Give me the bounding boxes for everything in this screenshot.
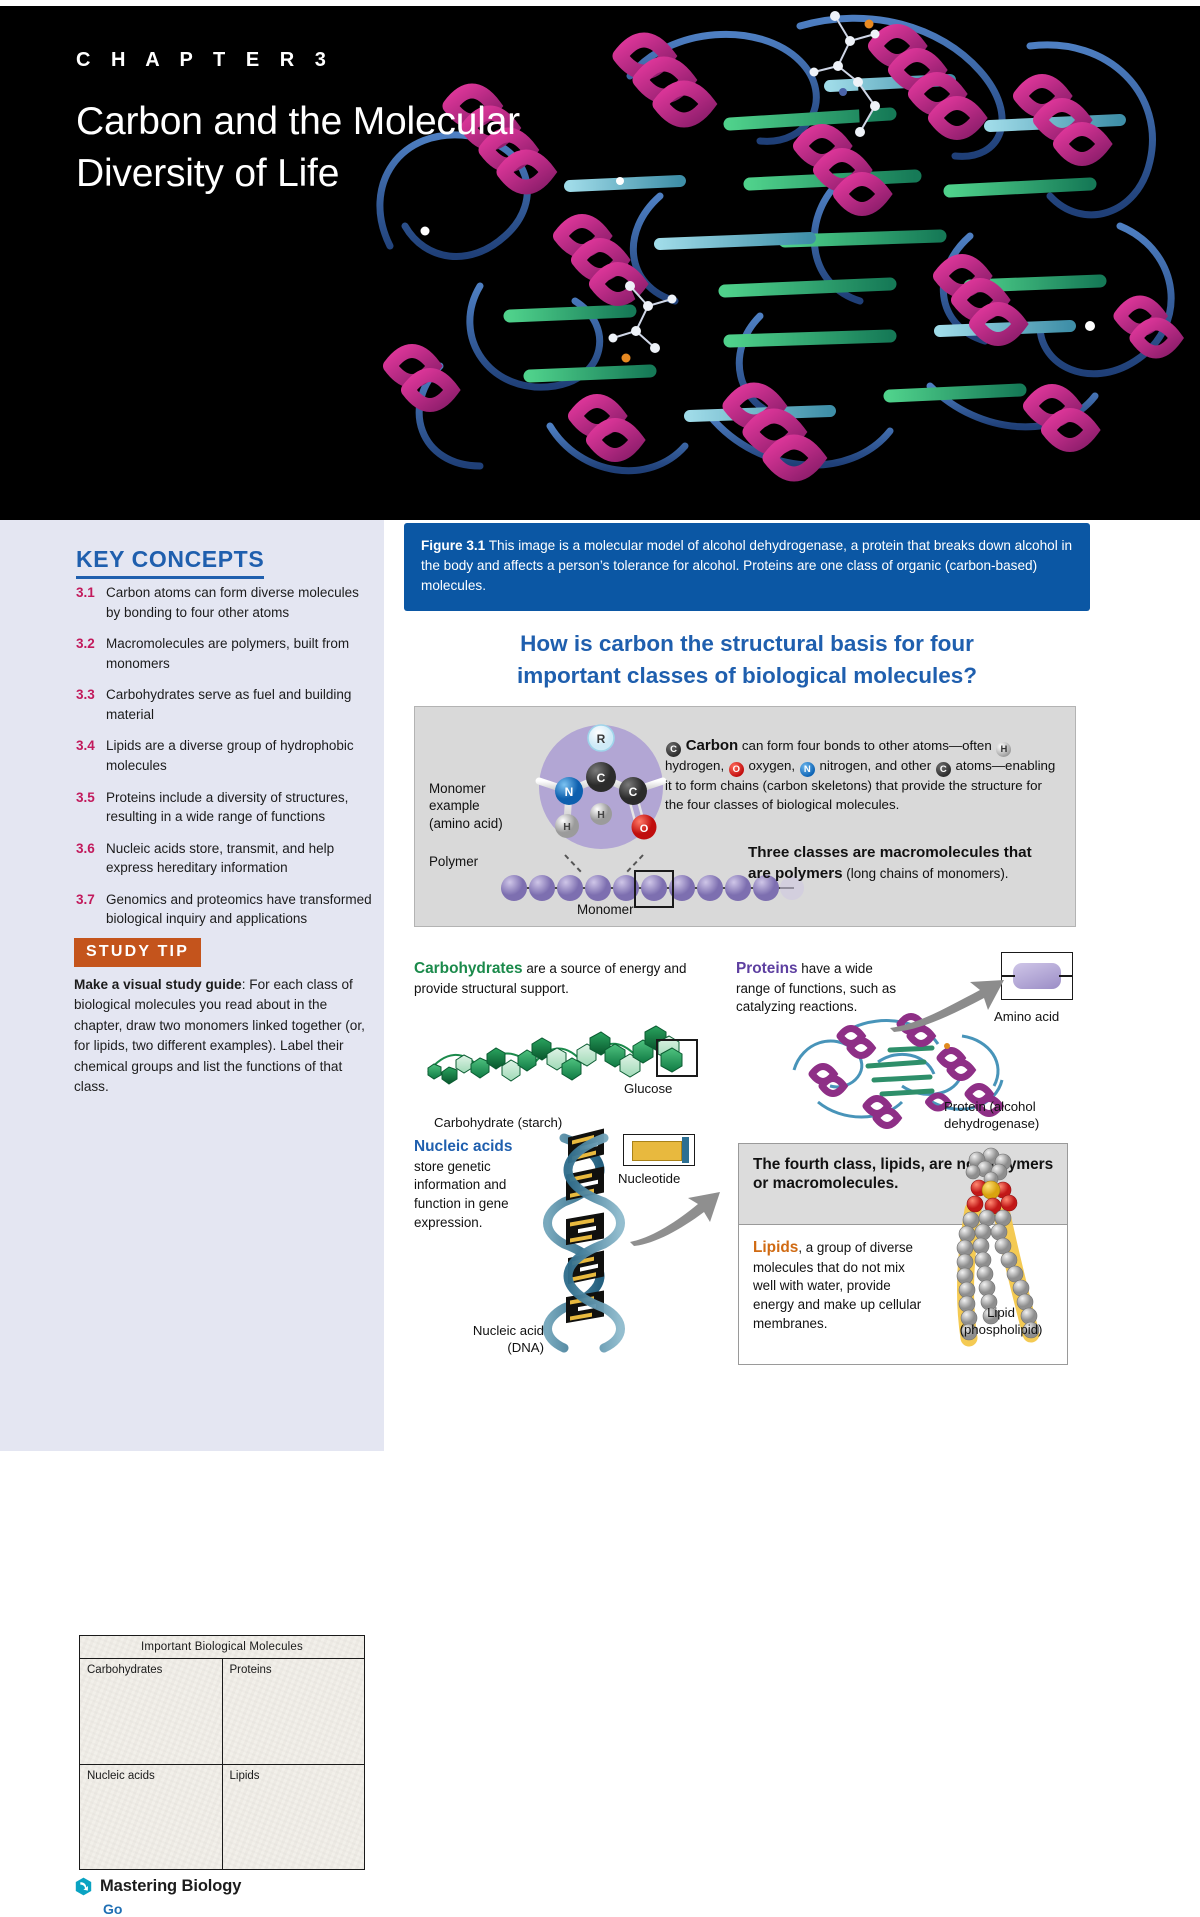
nucleic-acids-block: Nucleic acids store genetic information …	[414, 1136, 734, 1233]
lipid-caption-line1: Lipid	[935, 1304, 1067, 1321]
carbon-explanation: C Carbon can form four bonds to other at…	[665, 735, 1060, 815]
list-item[interactable]: 3.6 Nucleic acids store, transmit, and h…	[76, 839, 372, 878]
table-row: Carbohydrates Proteins	[80, 1659, 364, 1765]
table-cell-proteins: Proteins	[223, 1659, 365, 1764]
nitrogen-atom-icon: N	[800, 762, 815, 777]
nucleotide-backbone	[682, 1137, 689, 1163]
carbon-concept-box: Monomer example (amino acid) Polymer Mon…	[414, 706, 1076, 927]
table-cell-lipids: Lipids	[223, 1765, 365, 1870]
concept-number: 3.5	[76, 788, 106, 827]
nucleic-acids-paragraph: Nucleic acids store genetic information …	[414, 1136, 532, 1233]
concept-text: Lipids are a diverse group of hydrophobi…	[106, 736, 372, 775]
study-tip-text: : For each class of biological molecules…	[74, 977, 365, 1094]
lipids-paragraph: Lipids, a group of diverse molecules tha…	[739, 1225, 929, 1334]
question-heading: How is carbon the structural basis for f…	[404, 628, 1090, 692]
glucose-label: Glucose	[624, 1080, 672, 1097]
lipid-caption-line2: (phospholipid)	[935, 1321, 1067, 1338]
monomer-example-label: Monomer example (amino acid)	[429, 780, 521, 832]
concept-text: Genomics and proteomics have transformed…	[106, 890, 372, 929]
mastering-biology-label: Mastering Biology	[100, 1877, 241, 1896]
amino-acid-callout	[1001, 952, 1073, 1000]
list-item[interactable]: 3.2 Macromolecules are polymers, built f…	[76, 634, 372, 673]
page-title: Carbon and the Molecular Diversity of Li…	[76, 96, 520, 200]
key-concepts-list: 3.1 Carbon atoms can form diverse molecu…	[76, 583, 372, 941]
chapter-title-line-2: Diversity of Life	[76, 148, 520, 200]
lipids-label: Lipids	[753, 1239, 798, 1256]
carbon-atom-icon-2: C	[936, 762, 951, 777]
concept-number: 3.6	[76, 839, 106, 878]
concept-number: 3.1	[76, 583, 106, 622]
carbon-text-4: nitrogen, and other	[816, 758, 935, 773]
study-tip-lead: Make a visual study guide	[74, 977, 242, 992]
study-guide-table: Important Biological Molecules Carbohydr…	[79, 1635, 365, 1870]
carbon-text-1: can form four bonds to other atoms—often	[738, 738, 995, 753]
concept-number: 3.3	[76, 685, 106, 724]
mastering-biology-link[interactable]: Mastering Biology	[74, 1877, 241, 1896]
nucleic-acids-label: Nucleic acids	[414, 1138, 512, 1155]
hero-text-block: C H A P T E R 3 Carbon and the Molecular…	[76, 50, 520, 200]
nucleic-acids-text: store genetic information and function i…	[414, 1159, 509, 1230]
carbohydrates-label: Carbohydrates	[414, 960, 523, 977]
hydrogen-atom-icon: H	[996, 742, 1011, 757]
dna-caption: Nucleic acid (DNA)	[464, 1322, 544, 1356]
lipid-caption: Lipid (phospholipid)	[935, 1304, 1067, 1338]
list-item[interactable]: 3.4 Lipids are a diverse group of hydrop…	[76, 736, 372, 775]
proteins-block: Proteins have a wide range of functions,…	[736, 958, 1086, 1017]
nucleotide-base	[632, 1141, 682, 1161]
figure-caption-text: This image is a molecular model of alcoh…	[421, 538, 1072, 593]
mastering-arrow-icon	[74, 1877, 93, 1896]
monomer-label-line2: example	[429, 797, 521, 814]
amino-acid-bead	[1013, 963, 1061, 989]
carbohydrates-block: Carbohydrates are a source of energy and…	[414, 958, 714, 1131]
lipids-panel: The fourth class, lipids, are not polyme…	[738, 1143, 1068, 1365]
svg-text:O: O	[640, 823, 649, 835]
svg-text:H: H	[563, 821, 571, 833]
figure-label: Figure 3.1	[421, 538, 485, 553]
list-item[interactable]: 3.3 Carbohydrates serve as fuel and buil…	[76, 685, 372, 724]
concept-text: Nucleic acids store, transmit, and help …	[106, 839, 372, 878]
svg-text:H: H	[597, 809, 605, 821]
concept-number: 3.7	[76, 890, 106, 929]
table-row: Nucleic acids Lipids	[80, 1765, 364, 1870]
key-concepts-heading: KEY CONCEPTS	[76, 546, 264, 579]
table-title: Important Biological Molecules	[80, 1636, 364, 1659]
concept-text: Proteins include a diversity of structur…	[106, 788, 372, 827]
concept-number: 3.4	[76, 736, 106, 775]
amino-acid-bond-right	[1059, 975, 1072, 977]
monomer-label-line1: Monomer	[429, 780, 521, 797]
study-tip-badge: STUDY TIP	[74, 938, 201, 967]
svg-text:N: N	[565, 785, 574, 799]
svg-text:R: R	[597, 732, 606, 746]
nucleotide-label: Nucleotide	[618, 1170, 680, 1187]
protein-caption: Protein (alcohol dehydrogenase)	[944, 1098, 1039, 1132]
chapter-title-line-1: Carbon and the Molecular	[76, 96, 520, 148]
table-cell-nucleic-acids: Nucleic acids	[80, 1765, 223, 1870]
monomer-label-line3: (amino acid)	[429, 815, 521, 832]
hero-banner: C H A P T E R 3 Carbon and the Molecular…	[0, 6, 1200, 520]
protein-caption-line2: dehydrogenase)	[944, 1115, 1039, 1132]
svg-text:C: C	[597, 771, 606, 785]
list-item[interactable]: 3.5 Proteins include a diversity of stru…	[76, 788, 372, 827]
starch-diagram: Glucose	[414, 1010, 714, 1088]
carbohydrates-paragraph: Carbohydrates are a source of energy and…	[414, 958, 714, 998]
list-item[interactable]: 3.1 Carbon atoms can form diverse molecu…	[76, 583, 372, 622]
go-link[interactable]: Go	[103, 1901, 122, 1917]
proteins-label: Proteins	[736, 960, 798, 977]
dna-caption-line2: (DNA)	[464, 1339, 544, 1356]
figure-caption-banner: Figure 3.1 This image is a molecular mod…	[404, 523, 1090, 611]
question-line-2: important classes of biological molecule…	[404, 660, 1090, 692]
carbon-bold-word: Carbon	[686, 737, 739, 754]
list-item[interactable]: 3.7 Genomics and proteomics have transfo…	[76, 890, 372, 929]
dna-caption-line1: Nucleic acid	[464, 1322, 544, 1339]
dna-double-helix	[550, 1134, 624, 1352]
carbon-atom-icon: C	[666, 742, 681, 757]
key-concepts-sidebar: KEY CONCEPTS 3.1 Carbon atoms can form d…	[0, 520, 384, 1451]
carbon-text-2: hydrogen,	[665, 758, 728, 773]
dna-to-nucleotide-arrow	[626, 1188, 722, 1246]
three-classes-rest: (long chains of monomers).	[843, 866, 1009, 881]
oxygen-atom-icon: O	[729, 762, 744, 777]
carbon-text-3: oxygen,	[745, 758, 799, 773]
protein-caption-line1: Protein (alcohol	[944, 1098, 1039, 1115]
concept-number: 3.2	[76, 634, 106, 673]
chapter-eyebrow: C H A P T E R 3	[76, 50, 520, 70]
chapter-opener-page: C H A P T E R 3 Carbon and the Molecular…	[0, 0, 1200, 1451]
nucleotide-callout	[623, 1134, 695, 1166]
amino-acid-model: R C N C H H O	[511, 715, 691, 867]
table-cell-carbohydrates: Carbohydrates	[80, 1659, 223, 1764]
concept-text: Carbon atoms can form diverse molecules …	[106, 583, 372, 622]
carbohydrate-caption: Carbohydrate (starch)	[434, 1114, 714, 1131]
protein-to-monomer-arrow	[884, 972, 1008, 1032]
study-tip-body: Make a visual study guide: For each clas…	[74, 975, 374, 1097]
three-classes-note: Three classes are macromolecules that ar…	[748, 842, 1058, 885]
svg-text:C: C	[629, 785, 638, 799]
concept-text: Carbohydrates serve as fuel and building…	[106, 685, 372, 724]
concept-text: Macromolecules are polymers, built from …	[106, 634, 372, 673]
question-line-1: How is carbon the structural basis for f…	[404, 628, 1090, 660]
